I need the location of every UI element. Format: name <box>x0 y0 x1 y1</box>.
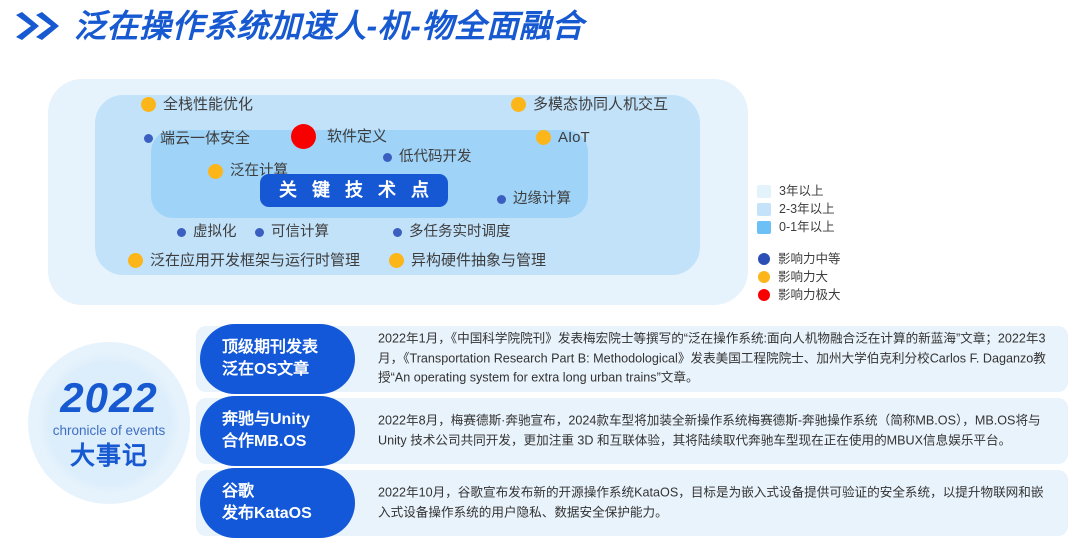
tech-node-label: 泛在应用开发框架与运行时管理 <box>150 253 360 268</box>
legend-label: 2-3年以上 <box>779 203 835 216</box>
event-pill-google-kataos[interactable]: 谷歌 发布KataOS <box>200 468 355 538</box>
impact-dot-high-icon <box>208 164 223 179</box>
tech-node-label: AIoT <box>558 130 590 145</box>
tech-node-hardware-abstraction[interactable]: 异构硬件抽象与管理 <box>389 253 546 268</box>
tech-node-full-stack-performance[interactable]: 全栈性能优化 <box>141 97 253 112</box>
impact-dot-medium-icon <box>177 228 186 237</box>
page-title: 泛在操作系统加速人-机-物全面融合 <box>74 10 584 42</box>
legend-item-maturity-3y: 3年以上 <box>757 183 841 199</box>
timeline-event-row[interactable]: 顶级期刊发表 泛在OS文章 2022年1月，《中国科学院院刊》发表梅宏院士等撰写… <box>196 326 1068 392</box>
tech-node-low-code-development[interactable]: 低代码开发 <box>383 150 472 165</box>
event-description: 2022年1月，《中国科学院院刊》发表梅宏院士等撰写的“泛在操作系统:面向人机物… <box>378 330 1054 389</box>
legend-label: 影响力极大 <box>778 289 841 302</box>
diagram-legend: 3年以上 2-3年以上 0-1年以上 影响力中等 影响力大 影响力极大 <box>757 183 841 305</box>
tech-node-label: 虚拟化 <box>193 225 237 240</box>
impact-dot-high-icon <box>536 130 551 145</box>
legend-dot-extreme-icon <box>758 289 770 301</box>
year-chinese-label: 大事记 <box>70 444 148 469</box>
impact-dot-high-icon <box>389 253 404 268</box>
event-pill-line2: 发布KataOS <box>222 503 355 525</box>
legend-swatch-icon <box>757 203 771 216</box>
legend-label: 影响力中等 <box>778 253 841 266</box>
event-pill-line1: 谷歌 <box>222 481 355 503</box>
event-pill-line2: 泛在OS文章 <box>222 359 355 381</box>
timeline-section: 2022 chronicle of events 大事记 顶级期刊发表 泛在OS… <box>0 318 1080 546</box>
tech-node-cloud-edge-security[interactable]: 端云一体安全 <box>144 131 250 146</box>
event-pill-line2: 合作MB.OS <box>222 431 355 453</box>
year-subtitle: chronicle of events <box>53 424 166 438</box>
legend-item-impact-medium: 影响力中等 <box>757 251 841 267</box>
double-chevron-right-icon <box>14 11 60 41</box>
tech-node-label: 边缘计算 <box>513 192 571 207</box>
legend-dot-medium-icon <box>758 253 770 265</box>
legend-item-impact-high: 影响力大 <box>757 269 841 285</box>
tech-node-edge-computing[interactable]: 边缘计算 <box>497 192 571 207</box>
event-pill-journal-publication[interactable]: 顶级期刊发表 泛在OS文章 <box>200 324 355 394</box>
year-number: 2022 <box>60 377 157 419</box>
tech-node-label: 全栈性能优化 <box>163 97 253 112</box>
page-header: 泛在操作系统加速人-机-物全面融合 <box>14 10 584 42</box>
year-badge: 2022 chronicle of events 大事记 <box>28 342 190 504</box>
tech-node-software-defined[interactable]: 软件定义 <box>291 124 387 149</box>
legend-label: 3年以上 <box>779 185 823 198</box>
impact-dot-extreme-icon <box>291 124 316 149</box>
event-description: 2022年8月，梅赛德斯·奔驰宣布，2024款车型将加装全新操作系统梅赛德斯-奔… <box>378 411 1054 450</box>
legend-swatch-icon <box>757 221 771 234</box>
legend-dot-high-icon <box>758 271 770 283</box>
legend-swatch-icon <box>757 185 771 198</box>
impact-dot-medium-icon <box>383 153 392 162</box>
tech-node-virtualization[interactable]: 虚拟化 <box>177 225 237 240</box>
event-pill-benz-unity[interactable]: 奔驰与Unity 合作MB.OS <box>200 396 355 466</box>
impact-dot-high-icon <box>128 253 143 268</box>
event-pill-line1: 奔驰与Unity <box>222 409 355 431</box>
tech-node-multimodal-interaction[interactable]: 多模态协同人机交互 <box>511 97 668 112</box>
timeline-event-row[interactable]: 谷歌 发布KataOS 2022年10月，谷歌宣布发布新的开源操作系统KataO… <box>196 470 1068 536</box>
legend-label: 0-1年以上 <box>779 221 835 234</box>
impact-dot-high-icon <box>141 97 156 112</box>
tech-node-label: 异构硬件抽象与管理 <box>411 253 546 268</box>
tech-node-trusted-computing[interactable]: 可信计算 <box>255 225 329 240</box>
event-pill-line1: 顶级期刊发表 <box>222 337 355 359</box>
impact-dot-medium-icon <box>497 195 506 204</box>
tech-node-multitask-scheduling[interactable]: 多任务实时调度 <box>393 225 511 240</box>
event-description: 2022年10月，谷歌宣布发布新的开源操作系统KataOS，目标是为嵌入式设备提… <box>378 483 1054 522</box>
impact-dot-medium-icon <box>255 228 264 237</box>
impact-dot-medium-icon <box>144 134 153 143</box>
impact-dot-high-icon <box>511 97 526 112</box>
legend-item-impact-extreme: 影响力极大 <box>757 287 841 303</box>
tech-node-label: 低代码开发 <box>399 150 472 165</box>
legend-label: 影响力大 <box>778 271 828 284</box>
tech-node-label: 软件定义 <box>327 129 387 144</box>
tech-node-label: 多模态协同人机交互 <box>533 97 668 112</box>
tech-node-label: 多任务实时调度 <box>409 225 511 240</box>
tech-node-aiot[interactable]: AIoT <box>536 130 590 145</box>
tech-landscape-diagram: 全栈性能优化 多模态协同人机交互 端云一体安全 软件定义 AIoT 泛在计算 低… <box>48 79 748 305</box>
timeline-event-row[interactable]: 奔驰与Unity 合作MB.OS 2022年8月，梅赛德斯·奔驰宣布，2024款… <box>196 398 1068 464</box>
legend-item-maturity-2-3y: 2-3年以上 <box>757 201 841 217</box>
tech-node-label: 可信计算 <box>271 225 329 240</box>
tech-node-label: 端云一体安全 <box>160 131 250 146</box>
tech-node-app-framework-runtime[interactable]: 泛在应用开发框架与运行时管理 <box>128 253 360 268</box>
impact-dot-medium-icon <box>393 228 402 237</box>
core-key-technology-badge: 关 键 技 术 点 <box>260 174 448 207</box>
legend-item-maturity-0-1y: 0-1年以上 <box>757 219 841 235</box>
